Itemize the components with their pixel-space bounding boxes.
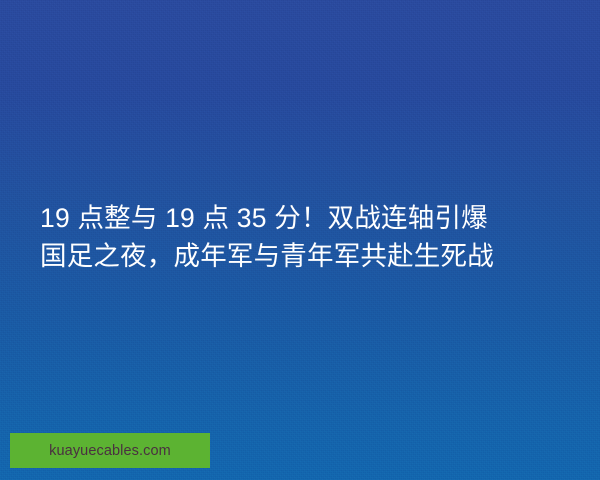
cover-image-canvas: 19 点整与 19 点 35 分！双战连轴引爆 国足之夜，成年军与青年军共赴生死… — [0, 0, 600, 480]
watermark-badge: kuayuecables.com — [10, 433, 210, 468]
headline-line-1: 19 点整与 19 点 35 分！双战连轴引爆 — [40, 199, 568, 237]
headline-text: 19 点整与 19 点 35 分！双战连轴引爆 国足之夜，成年军与青年军共赴生死… — [40, 199, 568, 275]
watermark-label: kuayuecables.com — [49, 443, 171, 459]
headline-line-2: 国足之夜，成年军与青年军共赴生死战 — [40, 237, 568, 275]
